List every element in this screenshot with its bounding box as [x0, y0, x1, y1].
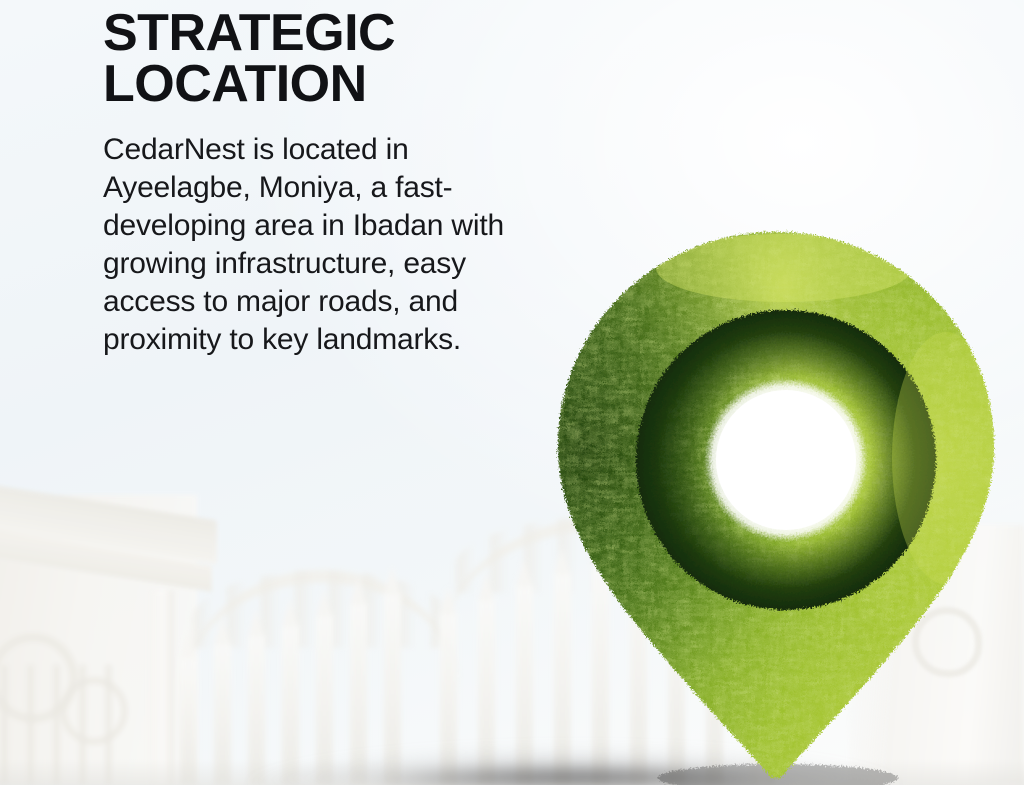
- gate-arch: [184, 570, 460, 693]
- pin-top-highlight: [656, 234, 912, 302]
- gate-picket: [516, 585, 533, 785]
- gate-scrollwork: [190, 570, 454, 648]
- text-column: STRATEGIC LOCATION CedarNest is located …: [103, 8, 533, 360]
- gate-picket: [478, 599, 495, 785]
- gate-picket: [350, 603, 367, 785]
- gate-panel-left: [172, 570, 472, 785]
- pillar-flute: [26, 665, 35, 785]
- pillar-flute: [78, 665, 87, 785]
- location-pin-graphic: [548, 222, 1004, 785]
- pin-right-highlight: [892, 332, 1000, 584]
- poster-canvas: STRATEGIC LOCATION CedarNest is located …: [0, 0, 1024, 785]
- pillar-flute: [104, 665, 113, 785]
- pin-hole-core: [716, 390, 856, 530]
- gate-picket: [180, 657, 197, 785]
- pillar-flute: [0, 665, 9, 785]
- gate-picket: [316, 615, 333, 785]
- gate-picket: [440, 613, 457, 785]
- pillar-scroll-ornament: [0, 633, 78, 723]
- pillar-flute: [52, 665, 61, 785]
- gate-picket: [214, 643, 231, 785]
- gate-picket: [384, 593, 401, 785]
- body-paragraph: CedarNest is located in Ayeelagbe, Moniy…: [103, 131, 523, 360]
- gate-picket: [282, 625, 299, 785]
- gate-picket: [248, 635, 265, 785]
- page-title: STRATEGIC LOCATION: [103, 8, 533, 111]
- pillar-left: [0, 495, 197, 785]
- gate-post: [150, 590, 174, 785]
- pillar-scroll-ornament-secondary: [60, 677, 128, 745]
